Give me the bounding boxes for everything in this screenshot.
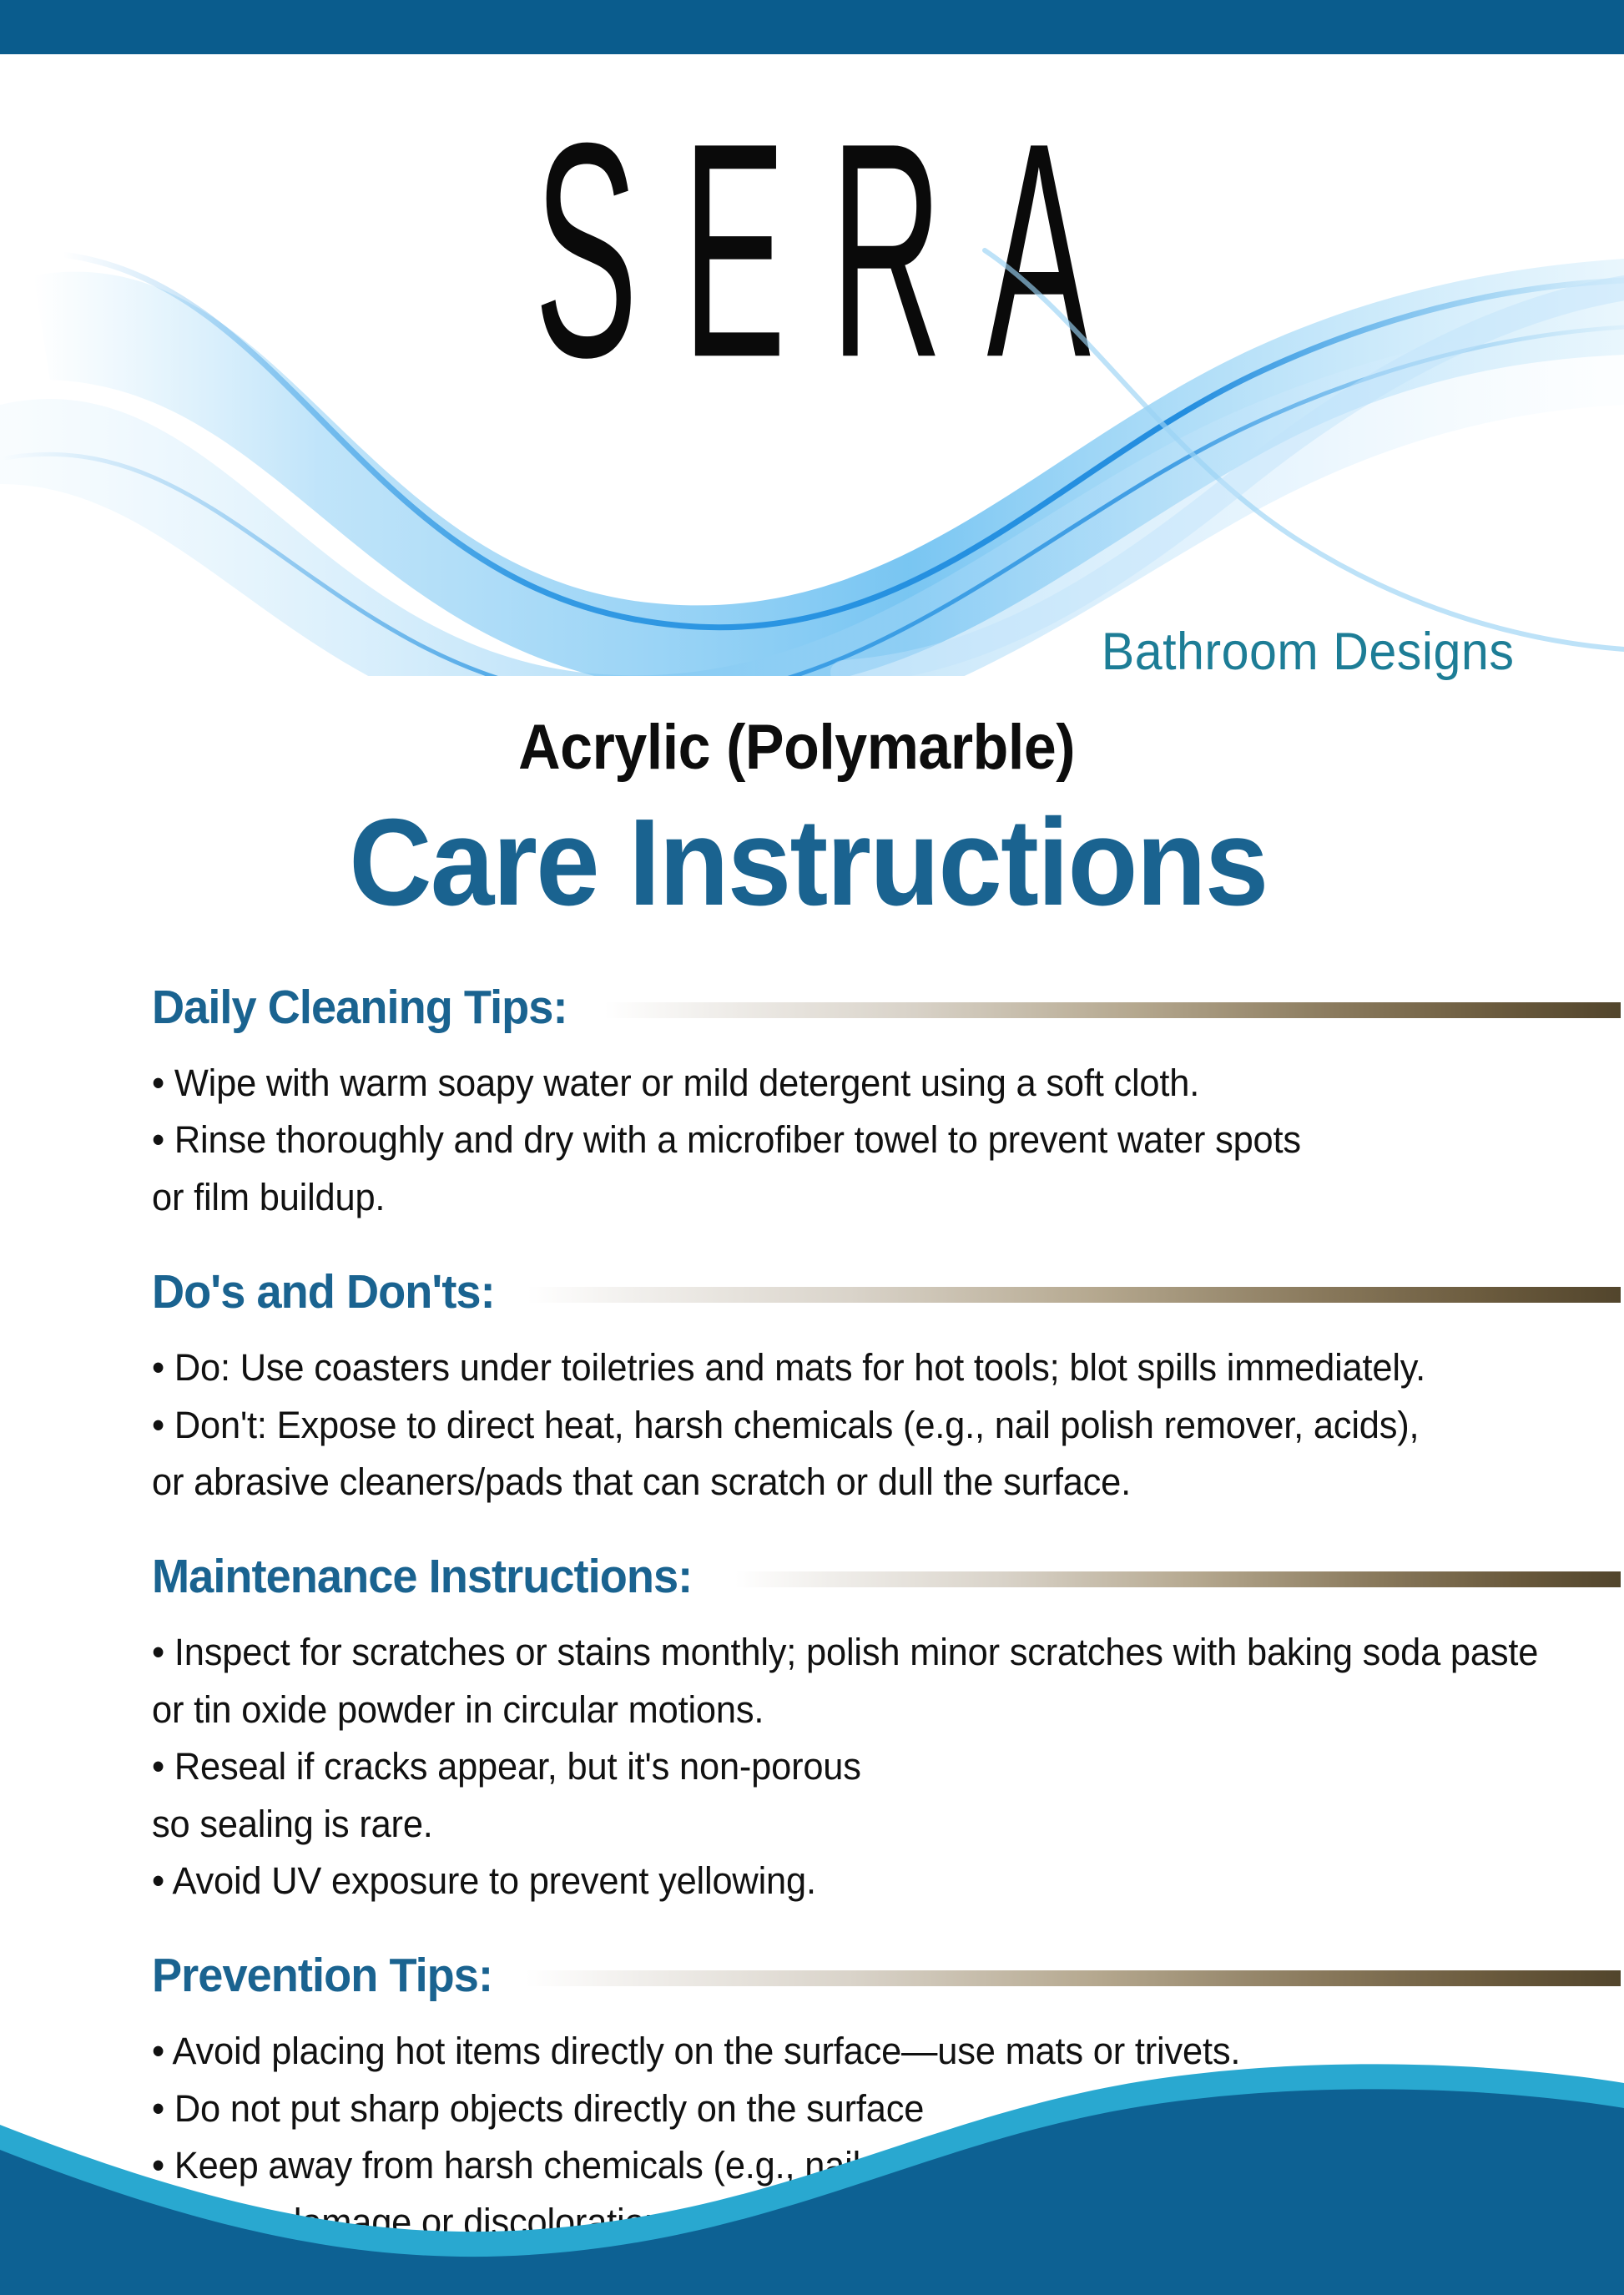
footer-wave-svg bbox=[0, 2053, 1624, 2295]
section-daily-cleaning-tips: Daily Cleaning Tips: • Wipe with warm so… bbox=[152, 975, 1621, 1226]
section-dos-and-donts: Do's and Don'ts: • Do: Use coasters unde… bbox=[152, 1259, 1621, 1511]
section-divider-rule bbox=[735, 1571, 1621, 1587]
bullet-line: • Inspect for scratches or stains monthl… bbox=[152, 1624, 1569, 1681]
section-heading: Prevention Tips: bbox=[152, 1948, 492, 2003]
poster-page: SERA bbox=[0, 0, 1624, 2295]
section-heading: Daily Cleaning Tips: bbox=[152, 980, 567, 1035]
bullet-line: • Wipe with warm soapy water or mild det… bbox=[152, 1055, 1569, 1112]
section-gap bbox=[152, 1914, 1621, 1943]
poster-subtitle: Acrylic (Polymarble) bbox=[65, 711, 1559, 784]
section-divider-rule bbox=[526, 1970, 1621, 1986]
section-bullets: • Wipe with warm soapy water or mild det… bbox=[152, 1055, 1621, 1226]
bullet-line: • Avoid UV exposure to prevent yellowing… bbox=[152, 1853, 1569, 1909]
brand-tagline: Bathroom Designs bbox=[98, 622, 1624, 682]
section-heading: Do's and Don'ts: bbox=[152, 1264, 495, 1319]
bullet-line: • Don't: Expose to direct heat, harsh ch… bbox=[152, 1397, 1569, 1454]
bullet-line: • Do: Use coasters under toiletries and … bbox=[152, 1339, 1569, 1396]
bullet-line: or film buildup. bbox=[152, 1169, 1569, 1226]
section-divider-rule bbox=[527, 1287, 1621, 1303]
section-divider-rule bbox=[604, 1002, 1621, 1018]
section-header-row: Prevention Tips: bbox=[152, 1943, 1621, 2008]
brand-logo-text: SERA bbox=[489, 100, 1134, 400]
footer-wave bbox=[0, 2053, 1624, 2295]
section-gap bbox=[152, 1516, 1621, 1544]
section-gap bbox=[152, 1231, 1621, 1259]
section-bullets: • Inspect for scratches or stains monthl… bbox=[152, 1624, 1621, 1909]
bullet-line: or tin oxide powder in circular motions. bbox=[152, 1682, 1569, 1738]
section-header-row: Daily Cleaning Tips: bbox=[152, 975, 1621, 1040]
section-bullets: • Do: Use coasters under toiletries and … bbox=[152, 1339, 1621, 1511]
top-accent-bar bbox=[0, 0, 1624, 54]
bullet-line: or abrasive cleaners/pads that can scrat… bbox=[152, 1454, 1569, 1511]
bullet-line: • Rinse thoroughly and dry with a microf… bbox=[152, 1112, 1569, 1168]
bullet-line: so sealing is rare. bbox=[152, 1796, 1569, 1853]
section-header-row: Maintenance Instructions: bbox=[152, 1544, 1621, 1609]
page-title: Care Instructions bbox=[57, 801, 1567, 925]
section-header-row: Do's and Don'ts: bbox=[152, 1259, 1621, 1324]
section-heading: Maintenance Instructions: bbox=[152, 1549, 692, 1604]
brand-logo: SERA bbox=[0, 100, 1624, 346]
section-maintenance-instructions: Maintenance Instructions: • Inspect for … bbox=[152, 1544, 1621, 1909]
bullet-line: • Reseal if cracks appear, but it's non-… bbox=[152, 1738, 1569, 1795]
